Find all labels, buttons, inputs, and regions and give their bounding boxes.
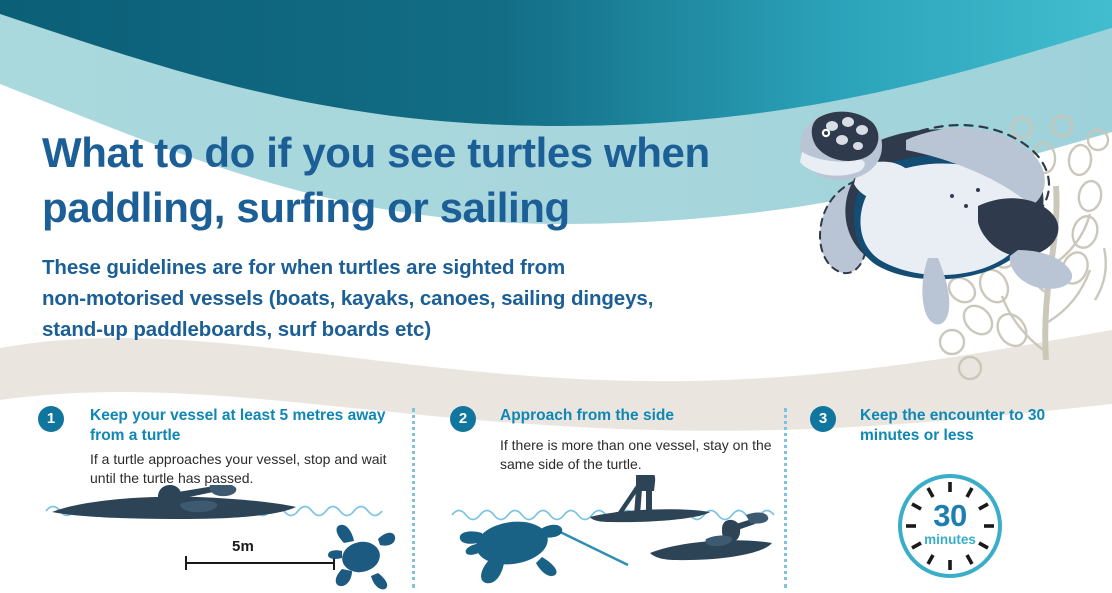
page-title: What to do if you see turtles when paddl…: [42, 126, 802, 235]
page-subtitle: These guidelines are for when turtles ar…: [42, 252, 832, 345]
step-2-illustration-approach-side: [450, 475, 780, 590]
step-3-header: 3 Keep the encounter to 30 minutes or le…: [810, 398, 1100, 446]
clock-unit: minutes: [890, 532, 1010, 547]
page-subtitle-line-2: non-motorised vessels (boats, kayaks, ca…: [42, 287, 653, 310]
page-title-line-1: What to do if you see turtles when: [42, 129, 710, 176]
step-3-title: Keep the encounter to 30 minutes or less: [860, 398, 1100, 446]
page-subtitle-line-3: stand-up paddleboards, surf boards etc): [42, 318, 431, 341]
step-2-badge: 2: [450, 406, 476, 432]
step-2-header: 2 Approach from the side: [450, 398, 780, 432]
turtle-silhouette-icon: [328, 525, 395, 590]
page-subtitle-line-1: These guidelines are for when turtles ar…: [42, 256, 565, 279]
step-2-title: Approach from the side: [500, 398, 780, 426]
step-1-illustration-kayak-distance: [38, 485, 400, 590]
step-3-illustration-clock: 30 minutes: [890, 470, 1010, 582]
page-title-line-2: paddling, surfing or sailing: [42, 184, 570, 231]
step-2-body: If there is more than one vessel, stay o…: [500, 436, 780, 474]
approach-direction-line: [554, 529, 628, 565]
infographic-poster: What to do if you see turtles when paddl…: [0, 0, 1112, 593]
turtle-silhouette-icon: [460, 517, 562, 583]
step-1-measure-label: 5m: [232, 538, 254, 555]
step-3-badge: 3: [810, 406, 836, 432]
measure-line-icon: [186, 556, 334, 570]
clock-value: 30: [890, 498, 1010, 534]
step-1-title: Keep your vessel at least 5 metres away …: [90, 398, 400, 446]
step-1-badge: 1: [38, 406, 64, 432]
clock-face-labels: 30 minutes: [890, 470, 1010, 582]
step-1-header: 1 Keep your vessel at least 5 metres awa…: [38, 398, 400, 446]
step-1-body: If a turtle approaches your vessel, stop…: [90, 450, 400, 488]
